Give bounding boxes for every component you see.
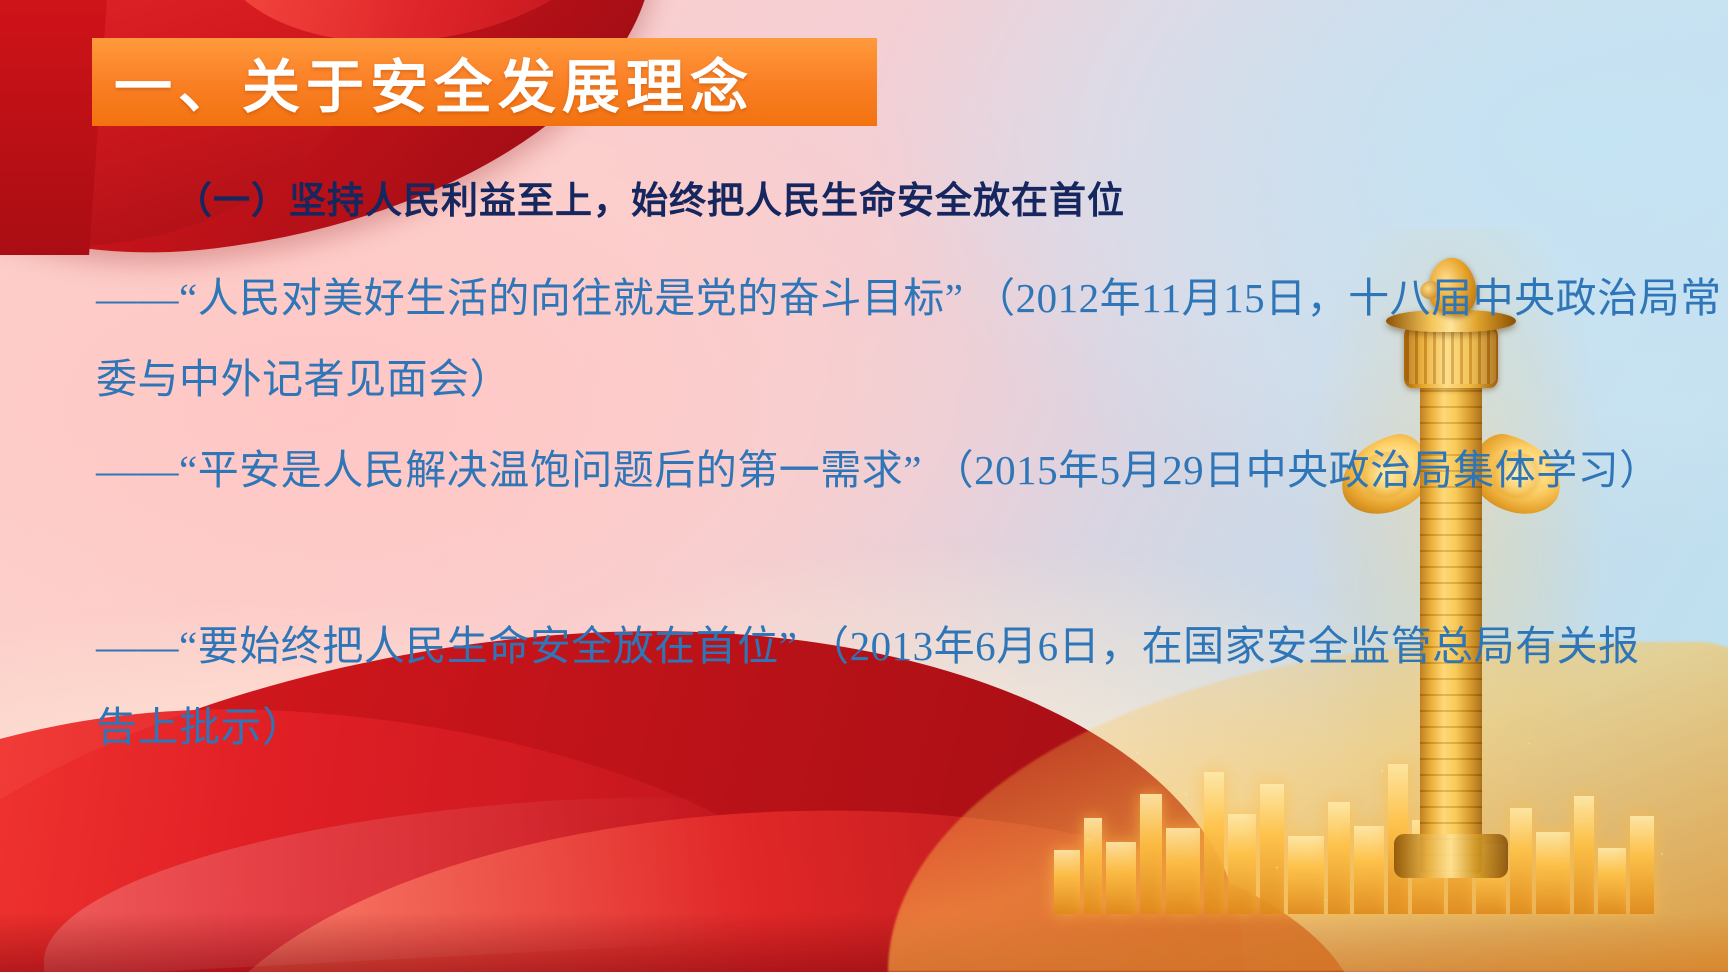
quote-paragraph-3: ——“要始终把人民生命安全放在首位” （2013年6月6日，在国家安全监管总局有…	[96, 606, 1656, 768]
slide-title-banner: 一、关于安全发展理念	[92, 38, 877, 126]
slide-subtitle: （一）坚持人民利益至上，始终把人民生命安全放在首位	[175, 170, 1125, 224]
quote-paragraph-1: ——“人民对美好生活的向往就是党的奋斗目标” （2012年11月15日，十八届中…	[96, 258, 1728, 420]
red-ribbon-left-strip-icon	[0, 0, 107, 255]
quote-paragraph-2: ——“平安是人民解决温饱问题后的第一需求” （2015年5月29日中央政治局集体…	[96, 430, 1656, 511]
page-title: 一、关于安全发展理念	[114, 40, 754, 124]
presentation-slide: 一、关于安全发展理念 （一）坚持人民利益至上，始终把人民生命安全放在首位 ——“…	[0, 0, 1728, 972]
huabiao-base	[1394, 834, 1508, 878]
